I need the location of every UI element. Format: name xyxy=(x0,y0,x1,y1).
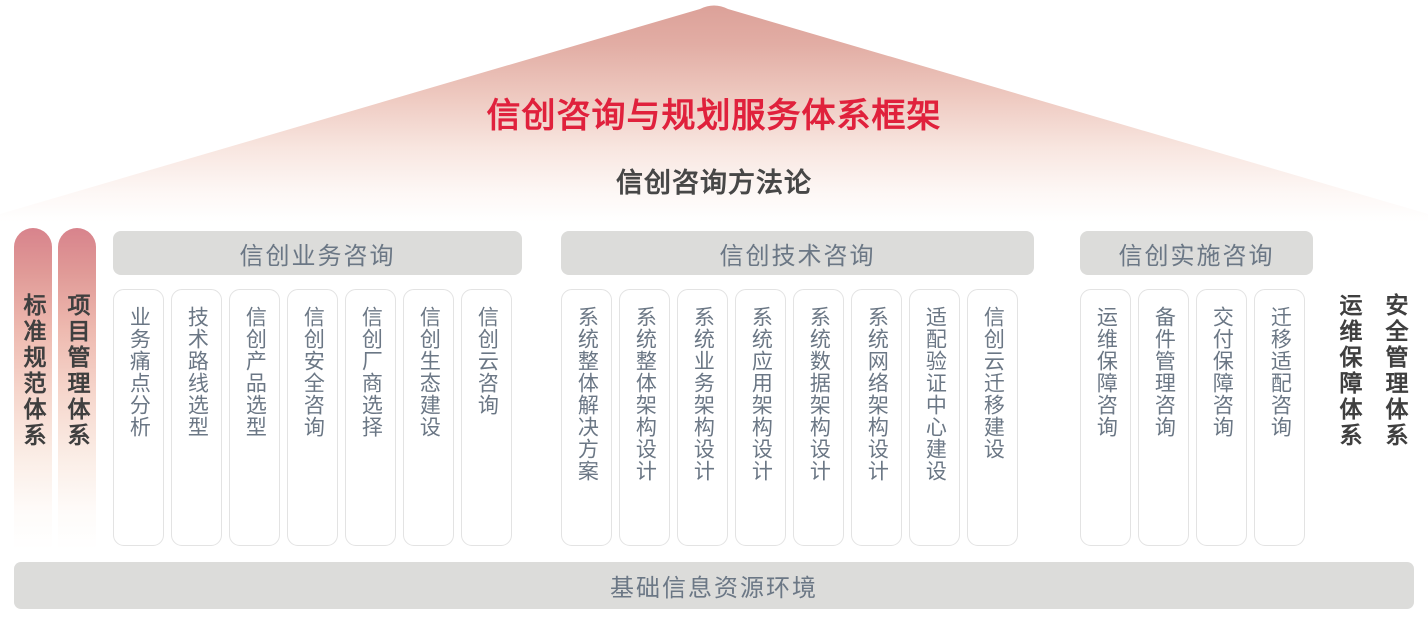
group-header[interactable]: 信创实施咨询 xyxy=(1080,231,1313,275)
column-card[interactable]: 系统整体架构设计 xyxy=(619,289,670,546)
column-label: 信创安全咨询 xyxy=(302,306,324,438)
group-business-consulting: 信创业务咨询 业务痛点分析 技术路线选型 信创产品选型 信创安全咨询 信创厂商选… xyxy=(113,231,522,275)
column-label: 系统整体架构设计 xyxy=(634,306,656,482)
column-card[interactable]: 信创产品选型 xyxy=(229,289,280,546)
pillar-standard-spec-system[interactable]: 标准规范体系 xyxy=(14,228,52,550)
column-label: 备件管理咨询 xyxy=(1153,306,1175,438)
architecture-diagram: 信创咨询与规划服务体系框架 信创咨询方法论 标准规范体系 项目管理体系 信创业务… xyxy=(0,0,1428,627)
pillar-label: 项目管理体系 xyxy=(58,228,96,550)
group-columns: 系统整体解决方案 系统整体架构设计 系统业务架构设计 系统应用架构设计 系统数据… xyxy=(561,289,1018,546)
column-card[interactable]: 业务痛点分析 xyxy=(113,289,164,546)
column-card[interactable]: 交付保障咨询 xyxy=(1196,289,1247,546)
column-card[interactable]: 备件管理咨询 xyxy=(1138,289,1189,546)
column-card[interactable]: 系统整体解决方案 xyxy=(561,289,612,546)
group-columns: 业务痛点分析 技术路线选型 信创产品选型 信创安全咨询 信创厂商选择 信创生态建… xyxy=(113,289,512,546)
column-card[interactable]: 信创云咨询 xyxy=(461,289,512,546)
column-label: 信创云咨询 xyxy=(476,306,498,416)
column-label: 系统网络架构设计 xyxy=(866,306,888,482)
column-label: 迁移适配咨询 xyxy=(1269,306,1291,438)
column-label: 系统整体解决方案 xyxy=(576,306,598,482)
column-card[interactable]: 系统业务架构设计 xyxy=(677,289,728,546)
column-card[interactable]: 信创生态建设 xyxy=(403,289,454,546)
column-label: 系统数据架构设计 xyxy=(808,306,830,482)
column-card[interactable]: 适配验证中心建设 xyxy=(909,289,960,546)
column-card[interactable]: 运维保障咨询 xyxy=(1080,289,1131,546)
pillar-project-management-system[interactable]: 项目管理体系 xyxy=(58,228,96,550)
column-card[interactable]: 迁移适配咨询 xyxy=(1254,289,1305,546)
column-label: 运维保障咨询 xyxy=(1095,306,1117,438)
column-label: 信创云迁移建设 xyxy=(982,306,1004,460)
page-title: 信创咨询与规划服务体系框架 xyxy=(0,99,1428,133)
pillar-label: 运维保障体系 xyxy=(1330,228,1368,550)
group-columns: 运维保障咨询 备件管理咨询 交付保障咨询 迁移适配咨询 xyxy=(1080,289,1305,546)
column-label: 业务痛点分析 xyxy=(128,306,150,438)
column-label: 适配验证中心建设 xyxy=(924,306,946,482)
pillar-security-management-system[interactable]: 安全管理体系 xyxy=(1376,228,1414,550)
pillar-ops-assurance-system[interactable]: 运维保障体系 xyxy=(1330,228,1368,550)
column-label: 技术路线选型 xyxy=(186,306,208,438)
column-label: 系统应用架构设计 xyxy=(750,306,772,482)
group-implementation-consulting: 信创实施咨询 运维保障咨询 备件管理咨询 交付保障咨询 迁移适配咨询 xyxy=(1080,231,1313,275)
group-technology-consulting: 信创技术咨询 系统整体解决方案 系统整体架构设计 系统业务架构设计 系统应用架构… xyxy=(561,231,1034,275)
pillar-label: 安全管理体系 xyxy=(1376,228,1414,550)
group-header[interactable]: 信创业务咨询 xyxy=(113,231,522,275)
column-card[interactable]: 信创云迁移建设 xyxy=(967,289,1018,546)
column-label: 信创产品选型 xyxy=(244,306,266,438)
column-card[interactable]: 技术路线选型 xyxy=(171,289,222,546)
column-card[interactable]: 系统数据架构设计 xyxy=(793,289,844,546)
group-header[interactable]: 信创技术咨询 xyxy=(561,231,1034,275)
column-card[interactable]: 信创厂商选择 xyxy=(345,289,396,546)
column-label: 信创生态建设 xyxy=(418,306,440,438)
pillar-label: 标准规范体系 xyxy=(14,228,52,550)
column-label: 信创厂商选择 xyxy=(360,306,382,438)
column-card[interactable]: 系统网络架构设计 xyxy=(851,289,902,546)
column-card[interactable]: 系统应用架构设计 xyxy=(735,289,786,546)
page-subtitle: 信创咨询方法论 xyxy=(0,170,1428,197)
column-label: 交付保障咨询 xyxy=(1211,306,1233,438)
column-label: 系统业务架构设计 xyxy=(692,306,714,482)
foundation-bar[interactable]: 基础信息资源环境 xyxy=(14,562,1414,609)
column-card[interactable]: 信创安全咨询 xyxy=(287,289,338,546)
